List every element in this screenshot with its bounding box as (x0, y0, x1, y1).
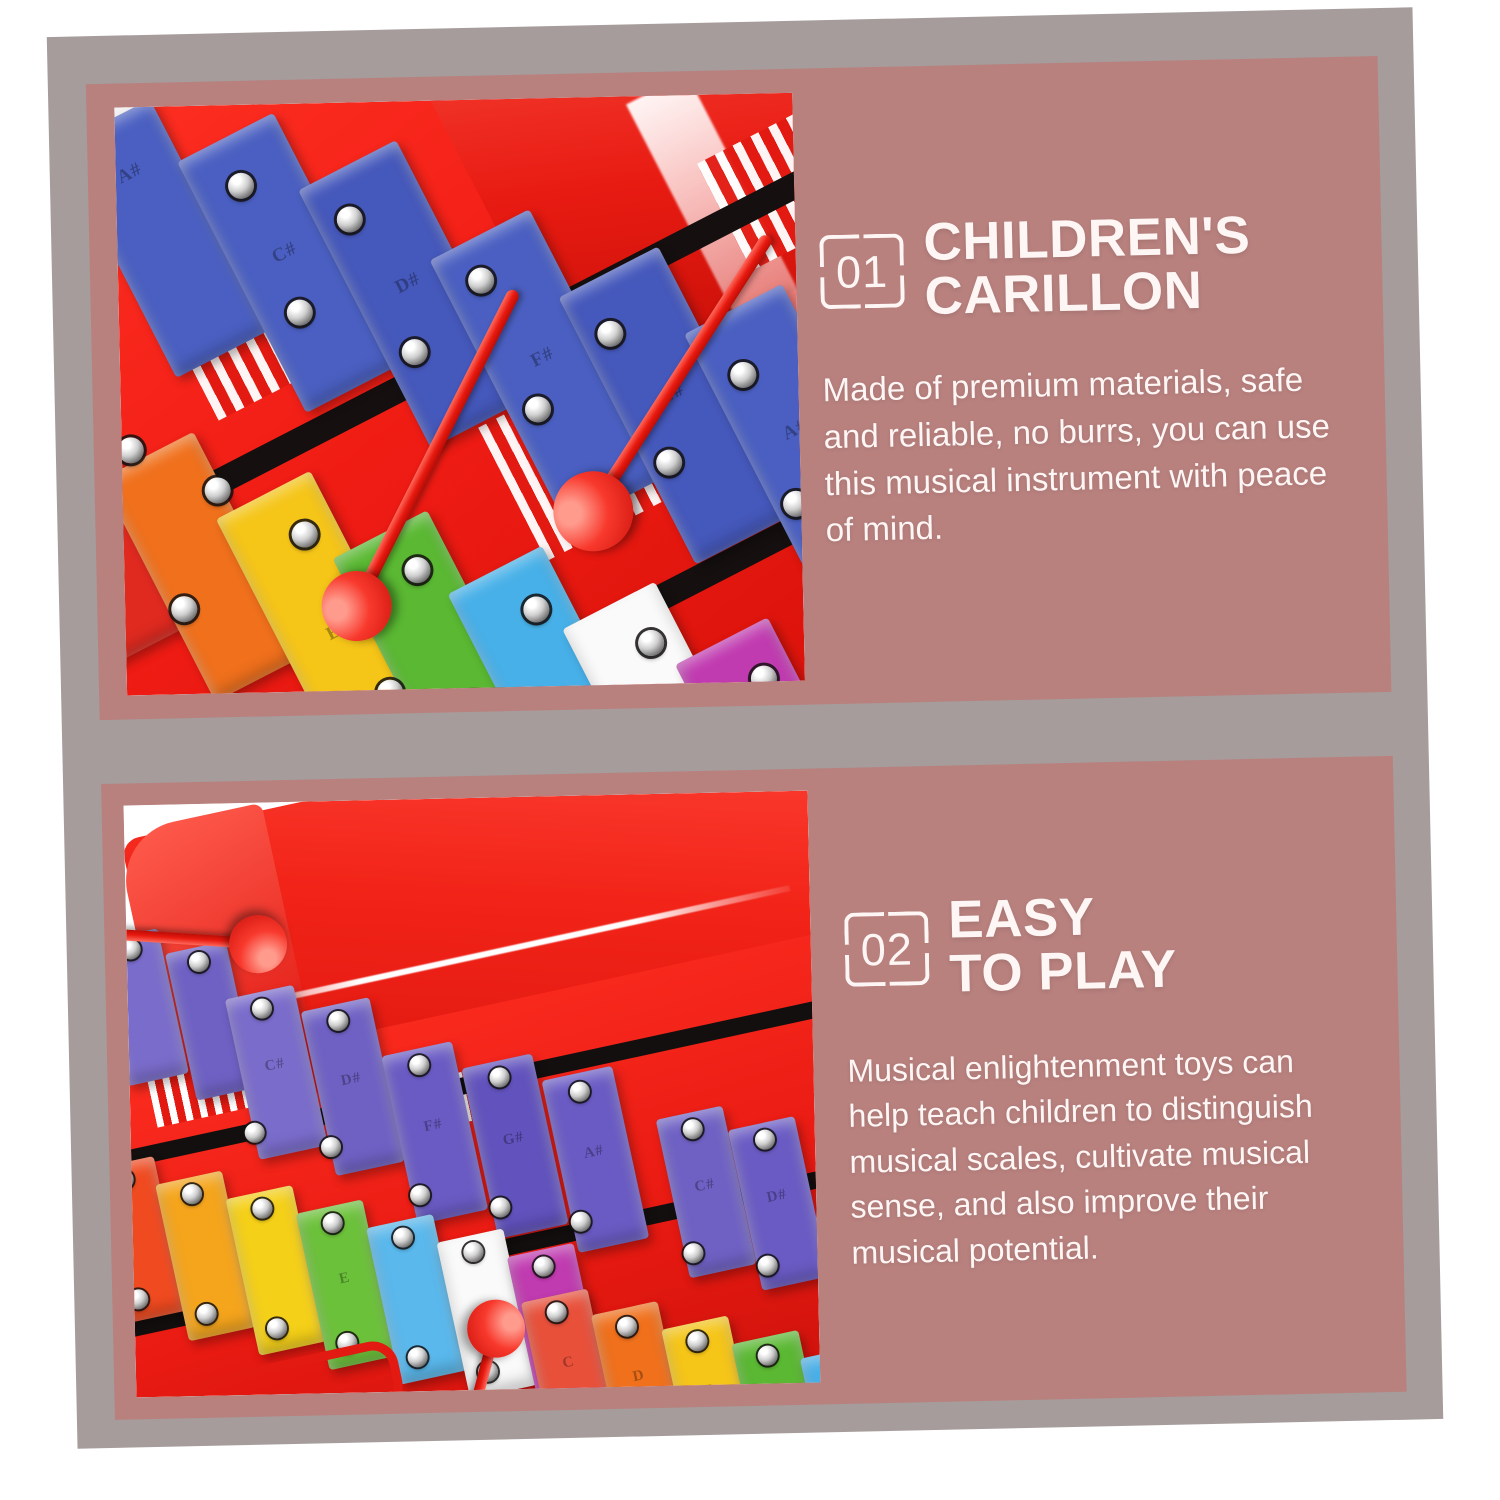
panel-2-text-block: 02 EASY TO PLAY Musical enlightenment to… (807, 756, 1407, 1405)
panel-1-heading-row: 01 CHILDREN'S CARILLON (819, 207, 1337, 327)
bar-label: D (631, 1367, 646, 1386)
bar-label: A# (582, 1142, 605, 1163)
panels-container: A# C# D# F# G# (47, 7, 1443, 1448)
panel-1-photo-frame: A# C# D# F# G# (86, 69, 806, 720)
bar-label: D# (765, 1187, 788, 1208)
bar-label: F# (527, 342, 558, 372)
infographic-root: A# C# D# F# G# (0, 0, 1500, 1500)
panel-1-description: Made of premium materials, safe and reli… (822, 356, 1342, 555)
panel-2-number-badge: 02 (844, 911, 930, 987)
bar-label: G# (501, 1129, 525, 1150)
panel-2-title: EASY TO PLAY (948, 888, 1178, 1002)
panel-1-photo: A# C# D# F# G# (114, 93, 805, 696)
bar-label: C (561, 1354, 576, 1373)
bar-label: F (773, 1396, 787, 1397)
panel-1-title: CHILDREN'S CARILLON (923, 209, 1252, 325)
panel-2-description: Musical enlightenment toys can help teac… (847, 1038, 1358, 1276)
panel-2-photo-frame: C# D# F# G# A# (101, 769, 821, 1420)
glockenspiel-fullview-illustration: C# D# F# G# A# (124, 791, 821, 1398)
bar-label: C# (268, 237, 301, 268)
badge-corner-bottom-left (845, 954, 886, 987)
badge-corner-top-right (863, 234, 904, 267)
panel-2-photo: C# D# F# G# A# (124, 791, 821, 1398)
bar-label: D# (392, 268, 425, 299)
feature-panel-2: C# D# F# G# A# (101, 756, 1407, 1420)
panel-1-text-block: 01 CHILDREN'S CARILLON Made of premium m… (792, 56, 1392, 705)
badge-corner-bottom-right (864, 276, 905, 309)
bar-label: E (338, 1269, 352, 1288)
bar-label: C# (693, 1175, 716, 1196)
badge-corner-bottom-right (889, 953, 930, 986)
bar-label: F# (422, 1116, 444, 1137)
bar-label: A# (114, 158, 146, 189)
glockenspiel-closeup-illustration: A# C# D# F# G# (114, 93, 805, 696)
panel-2-heading-row: 02 EASY TO PLAY (844, 885, 1352, 1005)
badge-corner-top-right (888, 911, 929, 944)
feature-panel-1: A# C# D# F# G# (86, 56, 1392, 720)
bar-stud (751, 665, 778, 692)
badge-corner-top-left (819, 235, 860, 268)
badge-corner-bottom-left (820, 277, 861, 310)
bar-label: C# (263, 1055, 286, 1076)
bar-label: D# (340, 1070, 363, 1091)
badge-corner-top-left (844, 912, 885, 945)
bar-label: E (702, 1381, 716, 1397)
panel-1-number-badge: 01 (819, 234, 905, 310)
